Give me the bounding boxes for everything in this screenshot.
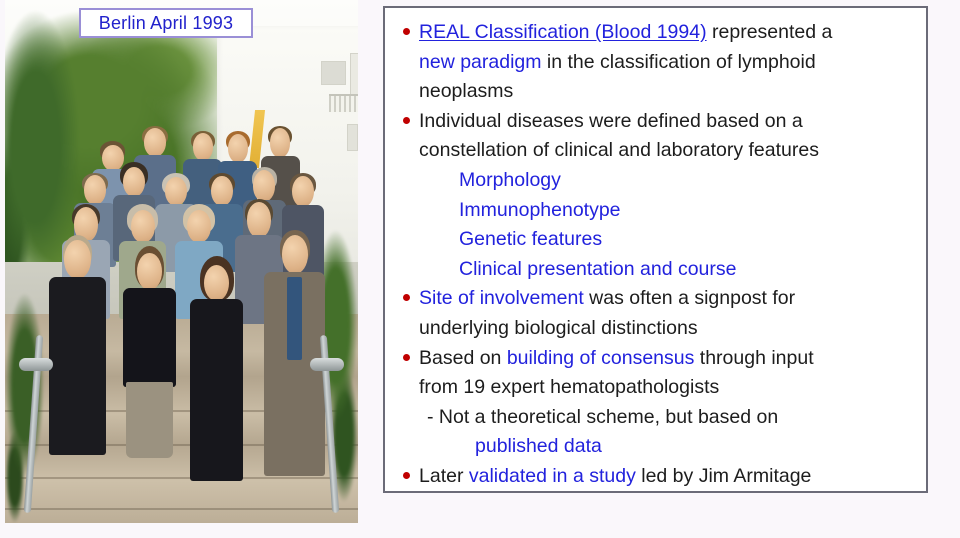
text-run: Based on — [419, 347, 507, 369]
building-balcony — [329, 94, 358, 112]
text-run: was often a signpost for — [584, 287, 795, 309]
bullet-line: neoplasms — [393, 77, 918, 107]
text-run: neoplasms — [419, 80, 513, 102]
text-run: Individual diseases were defined based o… — [419, 110, 803, 132]
bullet-line-text: underlying biological distinctions — [393, 314, 918, 344]
bullet-line-text: Later validated in a study led by Jim Ar… — [419, 462, 918, 492]
text-run: represented a — [707, 21, 833, 43]
bullet-text-box: REAL Classification (Blood 1994) represe… — [383, 6, 928, 493]
bullet-marker-icon — [393, 18, 419, 48]
bullet-marker-icon — [393, 344, 419, 374]
photo-person — [47, 235, 107, 455]
bullet-line: REAL Classification (Blood 1994) represe… — [393, 18, 918, 48]
photo-date-label-text: Berlin April 1993 — [99, 13, 233, 34]
text-run: Immunophenotype — [459, 199, 621, 221]
group-photograph — [5, 0, 358, 523]
bullet-line-text: Site of involvement was often a signpost… — [419, 284, 918, 314]
bullet-line-text: Individual diseases were defined based o… — [419, 107, 918, 137]
bullet-line: Individual diseases were defined based o… — [393, 107, 918, 137]
bullet-line: Clinical presentation and course — [393, 255, 918, 285]
group-photo-panel: Berlin April 1993 — [5, 0, 358, 523]
text-run: Later — [419, 465, 469, 487]
bullet-line: - Not a theoretical scheme, but based on — [393, 403, 918, 433]
bullet-line-text: Based on building of consensus through i… — [419, 344, 918, 374]
text-run: Clinical presentation and course — [459, 258, 737, 280]
bullet-line-text: Clinical presentation and course — [393, 255, 918, 285]
photo-handrail-cap — [19, 358, 53, 371]
photo-person — [263, 230, 327, 476]
photo-person — [189, 256, 245, 481]
text-run: published data — [475, 435, 602, 457]
bullet-line: Immunophenotype — [393, 196, 918, 226]
bullet-line: Later validated in a study led by Jim Ar… — [393, 462, 918, 492]
text-run: from 19 expert hematopathologists — [419, 376, 719, 398]
reference-link[interactable]: REAL Classification (Blood 1994) — [419, 21, 707, 43]
bullet-line: underlying biological distinctions — [393, 314, 918, 344]
bullet-marker-icon — [393, 284, 419, 314]
step-edge — [5, 508, 358, 510]
bullet-line-text: - Not a theoretical scheme, but based on — [393, 403, 918, 433]
bullet-line-text: new paradigm in the classification of ly… — [393, 48, 918, 78]
bullet-line: Morphology — [393, 166, 918, 196]
bullet-list: REAL Classification (Blood 1994) represe… — [393, 18, 918, 492]
bullet-line-text: Immunophenotype — [393, 196, 918, 226]
bullet-line: from 19 expert hematopathologists — [393, 373, 918, 403]
bullet-marker-icon — [393, 462, 419, 492]
text-run: underlying biological distinctions — [419, 317, 698, 339]
text-run: validated in a study — [469, 465, 636, 487]
bullet-line-text: constellation of clinical and laboratory… — [393, 136, 918, 166]
building-window — [347, 124, 358, 150]
photo-person — [121, 246, 177, 481]
bullet-line-text: Genetic features — [393, 225, 918, 255]
bullet-line: Genetic features — [393, 225, 918, 255]
text-run: new paradigm — [419, 51, 541, 73]
text-run: Genetic features — [459, 228, 602, 250]
text-run: through input — [694, 347, 813, 369]
bullet-line-text: REAL Classification (Blood 1994) represe… — [419, 18, 918, 48]
text-run: Site of involvement — [419, 287, 584, 309]
photo-handrail-cap — [310, 358, 344, 371]
bullet-marker-icon — [393, 107, 419, 137]
bullet-line: Based on building of consensus through i… — [393, 344, 918, 374]
text-run: in the classification of lymphoid — [541, 51, 815, 73]
bullet-line: Site of involvement was often a signpost… — [393, 284, 918, 314]
text-run: building of consensus — [507, 347, 695, 369]
text-run: constellation of clinical and laboratory… — [419, 139, 819, 161]
bullet-line-text: Morphology — [393, 166, 918, 196]
bullet-line: new paradigm in the classification of ly… — [393, 48, 918, 78]
bullet-line-text: published data — [393, 432, 918, 462]
text-run: Morphology — [459, 169, 561, 191]
bullet-line: published data — [393, 432, 918, 462]
building-window — [321, 61, 347, 85]
photo-date-label: Berlin April 1993 — [79, 8, 253, 38]
bullet-line-text: neoplasms — [393, 77, 918, 107]
bullet-line: constellation of clinical and laboratory… — [393, 136, 918, 166]
bullet-line-text: from 19 expert hematopathologists — [393, 373, 918, 403]
text-run: led by Jim Armitage — [636, 465, 812, 487]
text-run: - Not a theoretical scheme, but based on — [427, 406, 778, 428]
